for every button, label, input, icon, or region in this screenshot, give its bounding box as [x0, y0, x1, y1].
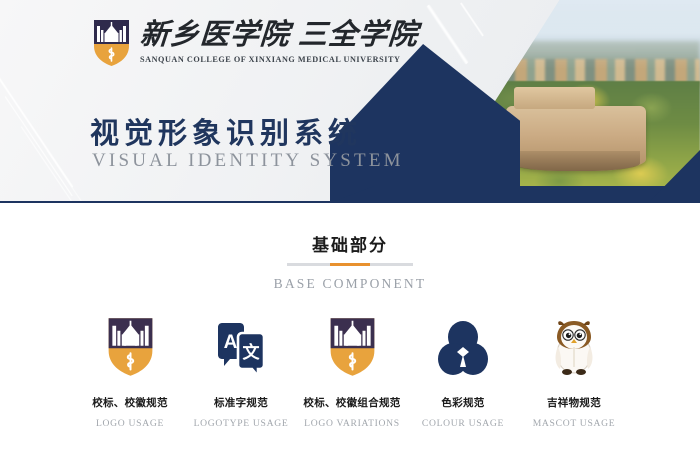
item-label-en: COLOUR USAGE [422, 418, 504, 429]
item-label-en: LOGOTYPE USAGE [194, 418, 289, 429]
sanquan-shield-logo-icon [93, 19, 130, 67]
presentation-slide: 新乡医学院 三全学院 SANQUAN COLLEGE OF XINXIANG M… [0, 0, 700, 466]
shield-logo-icon [107, 315, 154, 377]
component-item-colour-usage[interactable]: 色彩规范 COLOUR USAGE [411, 315, 515, 429]
svg-text:A: A [224, 332, 238, 353]
page-title-en: VISUAL IDENTITY SYSTEM [92, 150, 404, 172]
component-item-logo-variations[interactable]: 校标、校徽组合规范 LOGO VARIATIONS [300, 315, 404, 429]
component-item-grid: 校标、校徽规范 LOGO USAGE A 文 标准字规范 LOGOTYPE US… [78, 315, 626, 429]
component-item-logo-usage[interactable]: 校标、校徽规范 LOGO USAGE [78, 315, 182, 429]
item-label-cn: 校标、校徽组合规范 [303, 395, 400, 410]
shield-logo-icon [329, 315, 376, 377]
item-label-cn: 校标、校徽规范 [92, 395, 168, 410]
svg-text:文: 文 [243, 342, 261, 362]
slide-header: 新乡医学院 三全学院 SANQUAN COLLEGE OF XINXIANG M… [0, 0, 700, 203]
owl-mascot-icon [547, 315, 601, 377]
colour-wheel-icon [437, 315, 489, 377]
brand-name-en: SANQUAN COLLEGE OF XINXIANG MEDICAL UNIV… [140, 55, 418, 64]
item-label-cn: 吉祥物规范 [547, 395, 601, 410]
item-label-en: LOGO VARIATIONS [304, 418, 400, 429]
item-label-cn: 标准字规范 [214, 395, 268, 410]
item-label-en: LOGO USAGE [96, 418, 164, 429]
section-title-en: BASE COMPONENT [0, 276, 700, 292]
component-item-logotype-usage[interactable]: A 文 标准字规范 LOGOTYPE USAGE [189, 315, 293, 429]
translate-icon: A 文 [214, 315, 268, 377]
item-label-en: MASCOT USAGE [533, 418, 616, 429]
brand-logo-lockup[interactable]: 新乡医学院 三全学院 SANQUAN COLLEGE OF XINXIANG M… [93, 19, 418, 67]
base-component-section: 基础部分 BASE COMPONENT [0, 203, 700, 466]
component-item-mascot-usage[interactable]: 吉祥物规范 MASCOT USAGE [522, 315, 626, 429]
brand-name-cn: 新乡医学院 三全学院 [139, 21, 419, 50]
item-label-cn: 色彩规范 [441, 395, 484, 410]
page-title-cn: 视觉形象识别系统 [90, 110, 362, 152]
section-divider [287, 263, 413, 266]
photo-main-building [506, 106, 646, 171]
brand-wordmark: 新乡医学院 三全学院 SANQUAN COLLEGE OF XINXIANG M… [140, 19, 418, 64]
divider-accent-bar [330, 263, 370, 266]
section-title-cn: 基础部分 [0, 231, 700, 256]
